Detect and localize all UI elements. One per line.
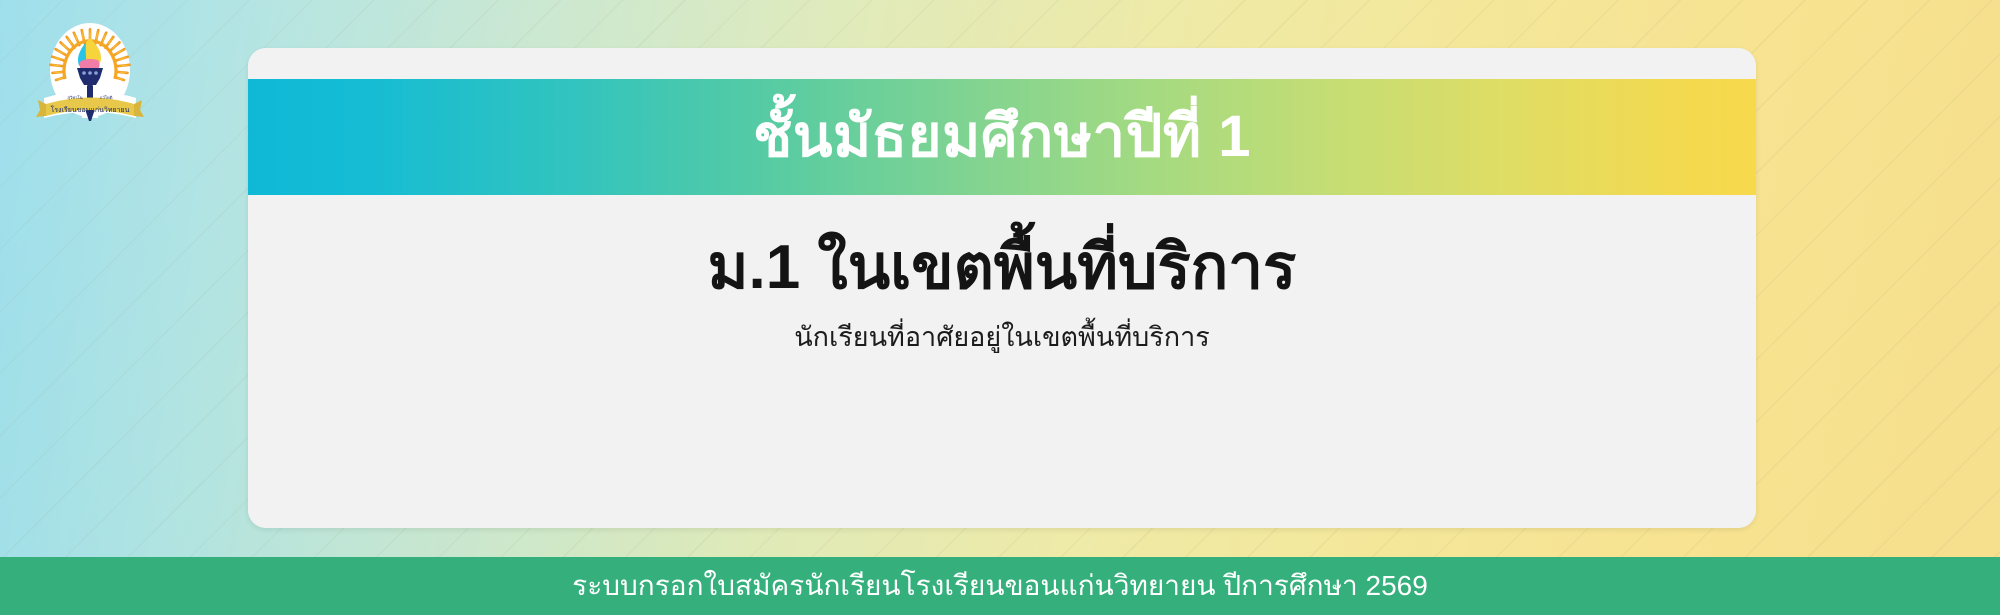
emblem-ribbon-text: โรงเรียนขอนแก่นวิทยายน [51,105,130,114]
footer-text: ระบบกรอกใบสมัครนักเรียนโรงเรียนขอนแก่นวิ… [572,572,1428,600]
card-subheading: นักเรียนที่อาศัยอยู่ในเขตพื้นที่บริการ [248,320,1756,355]
card-body: ม.1 ในเขตพื้นที่บริการ นักเรียนที่อาศัยอ… [248,195,1756,528]
page-footer: ระบบกรอกใบสมัครนักเรียนโรงเรียนขอนแก่นวิ… [0,557,2000,615]
card-gradient-header: ชั้นมัธยมศึกษาปีที่ 1 [248,79,1756,195]
emblem-motto-right: ภวํโหติ [100,95,113,100]
card-title: ชั้นมัธยมศึกษาปีที่ 1 [753,108,1251,166]
school-emblem-logo: โรงเรียนขอนแก่นวิทยายน สุวิชาโน ภวํโหติ [30,18,150,138]
app-screen: โรงเรียนขอนแก่นวิทยายน สุวิชาโน ภวํโหติ … [0,0,2000,615]
grade-level-card: ชั้นมัธยมศึกษาปีที่ 1 ม.1 ในเขตพื้นที่บร… [248,48,1756,528]
card-heading: ม.1 ในเขตพื้นที่บริการ [248,233,1756,302]
card-top-rail [248,48,1756,79]
